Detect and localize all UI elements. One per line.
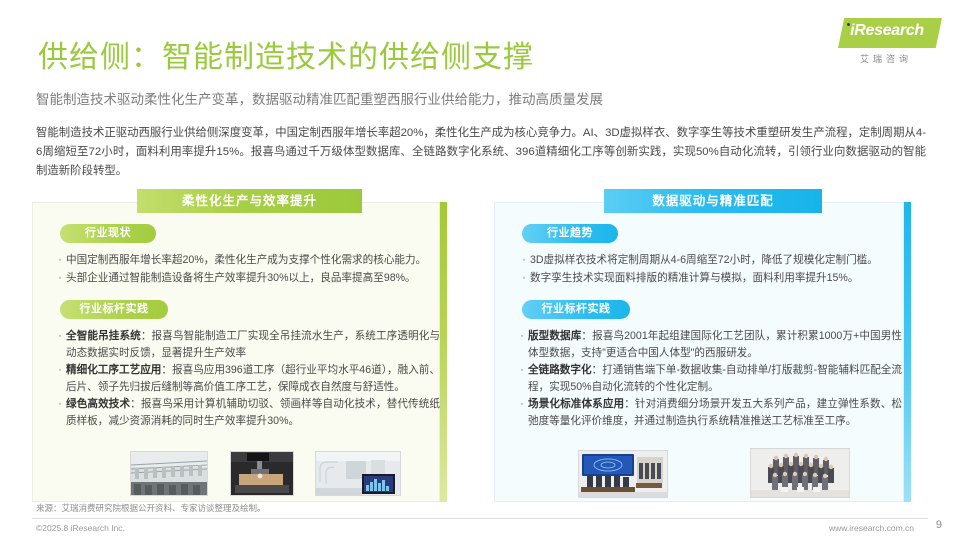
photo-smart-workshop [315, 451, 401, 496]
logo-brand-text: iResearch [837, 22, 937, 40]
bullet-dot-icon: · [54, 328, 66, 361]
list-item-lead: 场景化标准体系应用 [528, 398, 624, 410]
bullet-dot-icon: · [54, 252, 66, 269]
section-label-benchmark-practice: 行业标杆实践 [522, 300, 630, 319]
list-item-lead: 全智能吊挂系统 [66, 330, 141, 342]
panel-title-right: 数据驱动与精准匹配 [604, 189, 822, 213]
list-item-lead: 全链路数字化 [528, 364, 592, 376]
bullet-dot-icon: · [54, 396, 66, 429]
photo-cutting-machine [230, 451, 294, 496]
bullet-dot-icon: · [516, 396, 528, 429]
page-number: 9 [936, 519, 942, 531]
intro-paragraph: 智能制造技术正驱动西服行业供给侧深度变革，中国定制西服年增长率超20%，柔性化生… [36, 124, 926, 181]
photo-hanging-line [130, 451, 208, 496]
list-item: · 精细化工序工艺应用：报喜鸟应用396道工序（超行业平均水平46道），融入前、… [54, 362, 440, 395]
list-item-body: ：报喜鸟2001年起组建国际化工艺团队，累计积累1000万+中国男性体型数据，支… [528, 330, 902, 359]
photo-team-group [750, 448, 850, 498]
section-label-benchmark-practice: 行业标杆实践 [60, 300, 168, 319]
section-label-industry-status: 行业现状 [60, 224, 156, 243]
list-item: · 头部企业通过智能制造设备将生产效率提升30%以上，良品率提高至98%。 [54, 270, 432, 287]
list-item: · 中国定制西服年增长率超20%，柔性化生产成为支撑个性化需求的核心能力。 [54, 252, 432, 269]
list-item-lead: 精细化工序工艺应用 [66, 364, 161, 376]
panel-accent-bar [440, 202, 447, 502]
bullet-dot-icon: · [518, 270, 530, 287]
panel-title-left: 柔性化生产与效率提升 [137, 189, 362, 213]
list-item: · 场景化标准体系应用：针对消费细分场景开发五大系列产品，建立弹性系数、松弛度等… [516, 396, 902, 429]
list-item-text: 数字孪生技术实现面料排版的精准计算与模拟，面料利用率提升15%。 [530, 270, 896, 287]
list-item: · 版型数据库：报喜鸟2001年起组建国际化工艺团队，累计积累1000万+中国男… [516, 328, 902, 361]
bullets-industry-status: · 中国定制西服年增长率超20%，柔性化生产成为支撑个性化需求的核心能力。 · … [54, 252, 432, 287]
bullets-industry-trend: · 3D虚拟样衣技术将定制周期从4-6周缩至72小时，降低了规模化定制门槛。 ·… [518, 252, 896, 287]
bullet-dot-icon: · [518, 252, 530, 269]
section-label-industry-trend: 行业趋势 [522, 224, 618, 243]
list-item-lead: 版型数据库 [528, 330, 581, 342]
list-item-text: 绿色高效技术：报喜鸟采用计算机辅助切驳、领画样等自动化技术，替代传统纸质样板，减… [66, 396, 440, 429]
photo-smart-workshop-image [316, 452, 400, 495]
photo-showroom-screen-image [579, 451, 667, 497]
panel-flexible-production: 柔性化生产与效率提升 行业现状 · 中国定制西服年增长率超20%，柔性化生产成为… [32, 202, 447, 502]
footer-website: www.iresearch.com.cn [829, 523, 914, 533]
list-item-text: 全智能吊挂系统：报喜鸟智能制造工厂实现全吊挂流水生产，系统工序透明化与动态数据实… [66, 328, 440, 361]
photo-hanging-line-image [131, 452, 207, 495]
copyright-text: ©2025.8 iResearch Inc. [36, 523, 125, 533]
panel-data-driven-matching: 数据驱动与精准匹配 行业趋势 · 3D虚拟样衣技术将定制周期从4-6周缩至72小… [494, 202, 911, 502]
list-item-text: 精细化工序工艺应用：报喜鸟应用396道工序（超行业平均水平46道），融入前、后片… [66, 362, 440, 395]
list-item-lead: 绿色高效技术 [66, 398, 130, 410]
bullets-benchmark-practice: · 全智能吊挂系统：报喜鸟智能制造工厂实现全吊挂流水生产，系统工序透明化与动态数… [54, 328, 440, 430]
bullet-dot-icon: · [54, 270, 66, 287]
bullet-dot-icon: · [516, 362, 528, 395]
list-item-text: 全链路数字化：打通销售端下单-数据收集-自动排单/打版裁剪-智能辅料匹配全流程，… [528, 362, 902, 395]
photo-cutting-machine-image [231, 452, 293, 495]
list-item: · 全链路数字化：打通销售端下单-数据收集-自动排单/打版裁剪-智能辅料匹配全流… [516, 362, 902, 395]
list-item-text: 场景化标准体系应用：针对消费细分场景开发五大系列产品，建立弹性系数、松弛度等量化… [528, 396, 902, 429]
panel-accent-bar [904, 202, 911, 502]
list-item-text: 头部企业通过智能制造设备将生产效率提升30%以上，良品率提高至98%。 [66, 270, 432, 287]
list-item-text: 中国定制西服年增长率超20%，柔性化生产成为支撑个性化需求的核心能力。 [66, 252, 432, 269]
page-subtitle: 智能制造技术驱动柔性化生产变革，数据驱动精准匹配重塑西服行业供给能力，推动高质量… [36, 88, 603, 108]
list-item: · 数字孪生技术实现面料排版的精准计算与模拟，面料利用率提升15%。 [518, 270, 896, 287]
list-item: · 3D虚拟样衣技术将定制周期从4-6周缩至72小时，降低了规模化定制门槛。 [518, 252, 896, 269]
page-title: 供给侧：智能制造技术的供给侧支撑 [38, 32, 534, 76]
list-item-text: 版型数据库：报喜鸟2001年起组建国际化工艺团队，累计积累1000万+中国男性体… [528, 328, 902, 361]
bullet-dot-icon: · [516, 328, 528, 361]
list-item: · 绿色高效技术：报喜鸟采用计算机辅助切驳、领画样等自动化技术，替代传统纸质样板… [54, 396, 440, 429]
source-note: 来源：艾瑞消费研究院根据公开资料、专家访谈整理及绘制。 [36, 502, 266, 514]
photo-showroom-screen [578, 450, 668, 498]
iresearch-logo: iResearch 艾瑞咨询 [832, 18, 942, 70]
logo-dot-icon [847, 23, 850, 26]
bullet-dot-icon: · [54, 362, 66, 395]
bullets-benchmark-practice: · 版型数据库：报喜鸟2001年起组建国际化工艺团队，累计积累1000万+中国男… [516, 328, 902, 430]
photo-team-group-image [751, 449, 849, 497]
list-item: · 全智能吊挂系统：报喜鸟智能制造工厂实现全吊挂流水生产，系统工序透明化与动态数… [54, 328, 440, 361]
list-item-text: 3D虚拟样衣技术将定制周期从4-6周缩至72小时，降低了规模化定制门槛。 [530, 252, 896, 269]
footer-divider [32, 518, 928, 519]
logo-brand-cn: 艾瑞咨询 [836, 52, 936, 65]
